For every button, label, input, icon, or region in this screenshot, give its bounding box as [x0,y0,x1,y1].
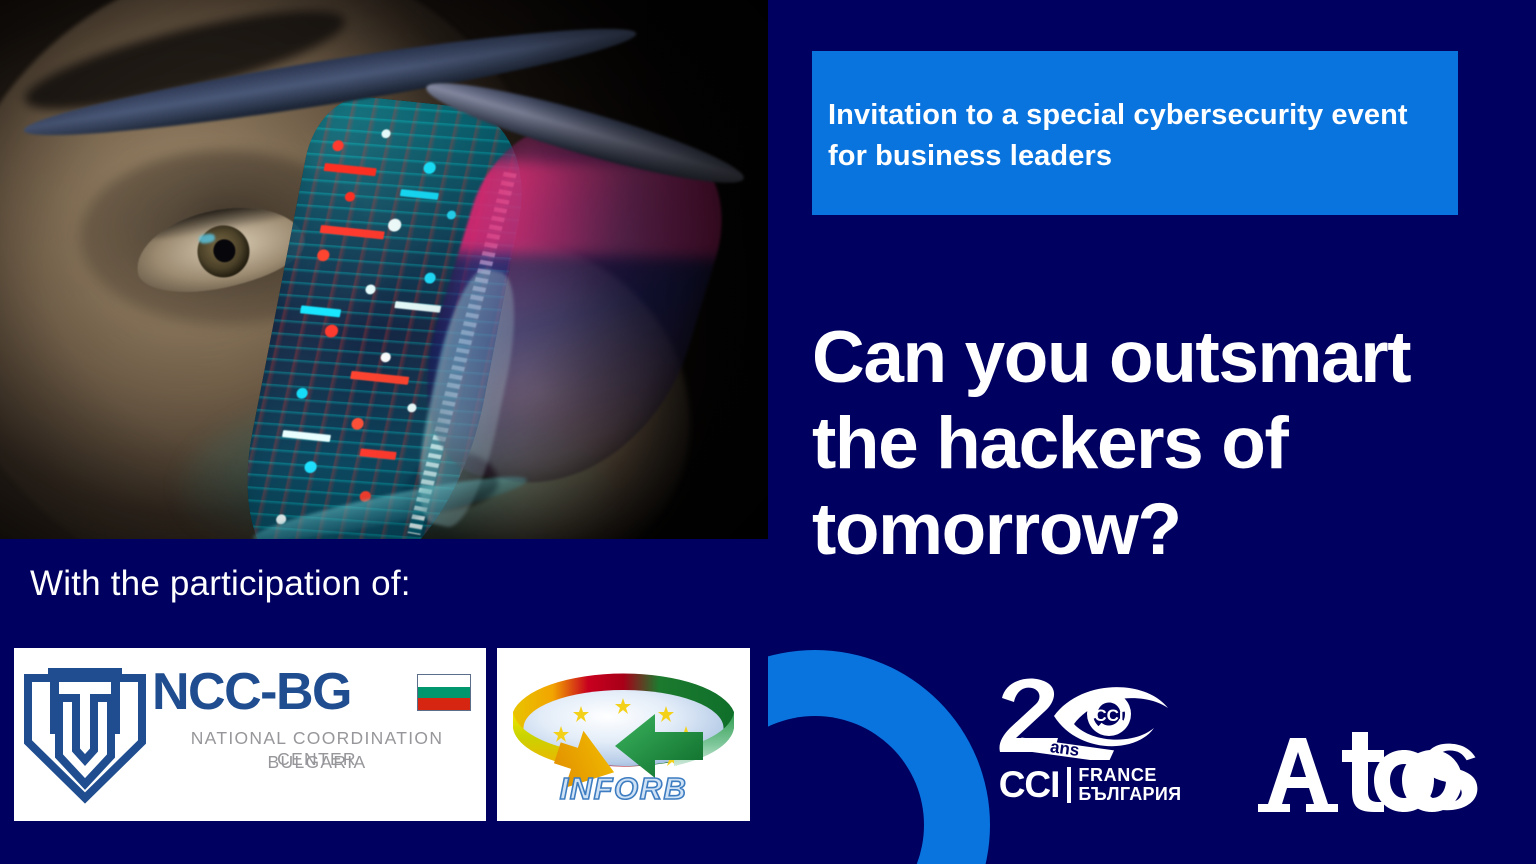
brand-logo-atos [1256,728,1486,814]
participation-label: With the participation of: [30,564,411,604]
decorative-blue-arc [768,650,990,864]
partner-logo-inforb: INFORB [497,648,750,821]
cci-letters: CCI [999,766,1060,803]
ncc-subtitle-line-2: BULGARIA [152,752,482,773]
svg-text:CCi: CCi [1094,706,1123,725]
hero-photo-cybersecurity-glasses [0,0,768,539]
cci-wordmark: CCI FRANCE БЪЛГАРИЯ [992,766,1188,803]
cci-20-ans-eye-icon: CCi ans [996,672,1176,760]
page-title: Can you outsmart the hackers of tomorrow… [812,315,1492,573]
cci-country-bulgaria: БЪЛГАРИЯ [1078,785,1181,804]
cci-divider [1067,767,1071,803]
cci-country-block: FRANCE БЪЛГАРИЯ [1078,766,1181,803]
ncc-shield-icon [24,664,146,804]
presentation-slide: Invitation to a special cybersecurity ev… [0,0,1536,864]
partner-logo-ncc-bg: NCC-BG NATIONAL COORDINATION CENTER BULG… [14,648,486,821]
ncc-wordmark: NCC-BG [152,666,351,718]
partner-logo-cci-france-bulgarie: CCi ans CCI FRANCE БЪЛГАРИЯ [992,672,1188,812]
photo-vignette [0,0,768,539]
svg-text:ans: ans [1049,737,1081,760]
kicker-banner: Invitation to a special cybersecurity ev… [812,51,1458,215]
cci-country-france: FRANCE [1078,766,1181,785]
bulgaria-flag-icon [417,674,471,711]
kicker-text: Invitation to a special cybersecurity ev… [828,95,1438,177]
inforb-wordmark: INFORB [503,771,744,807]
